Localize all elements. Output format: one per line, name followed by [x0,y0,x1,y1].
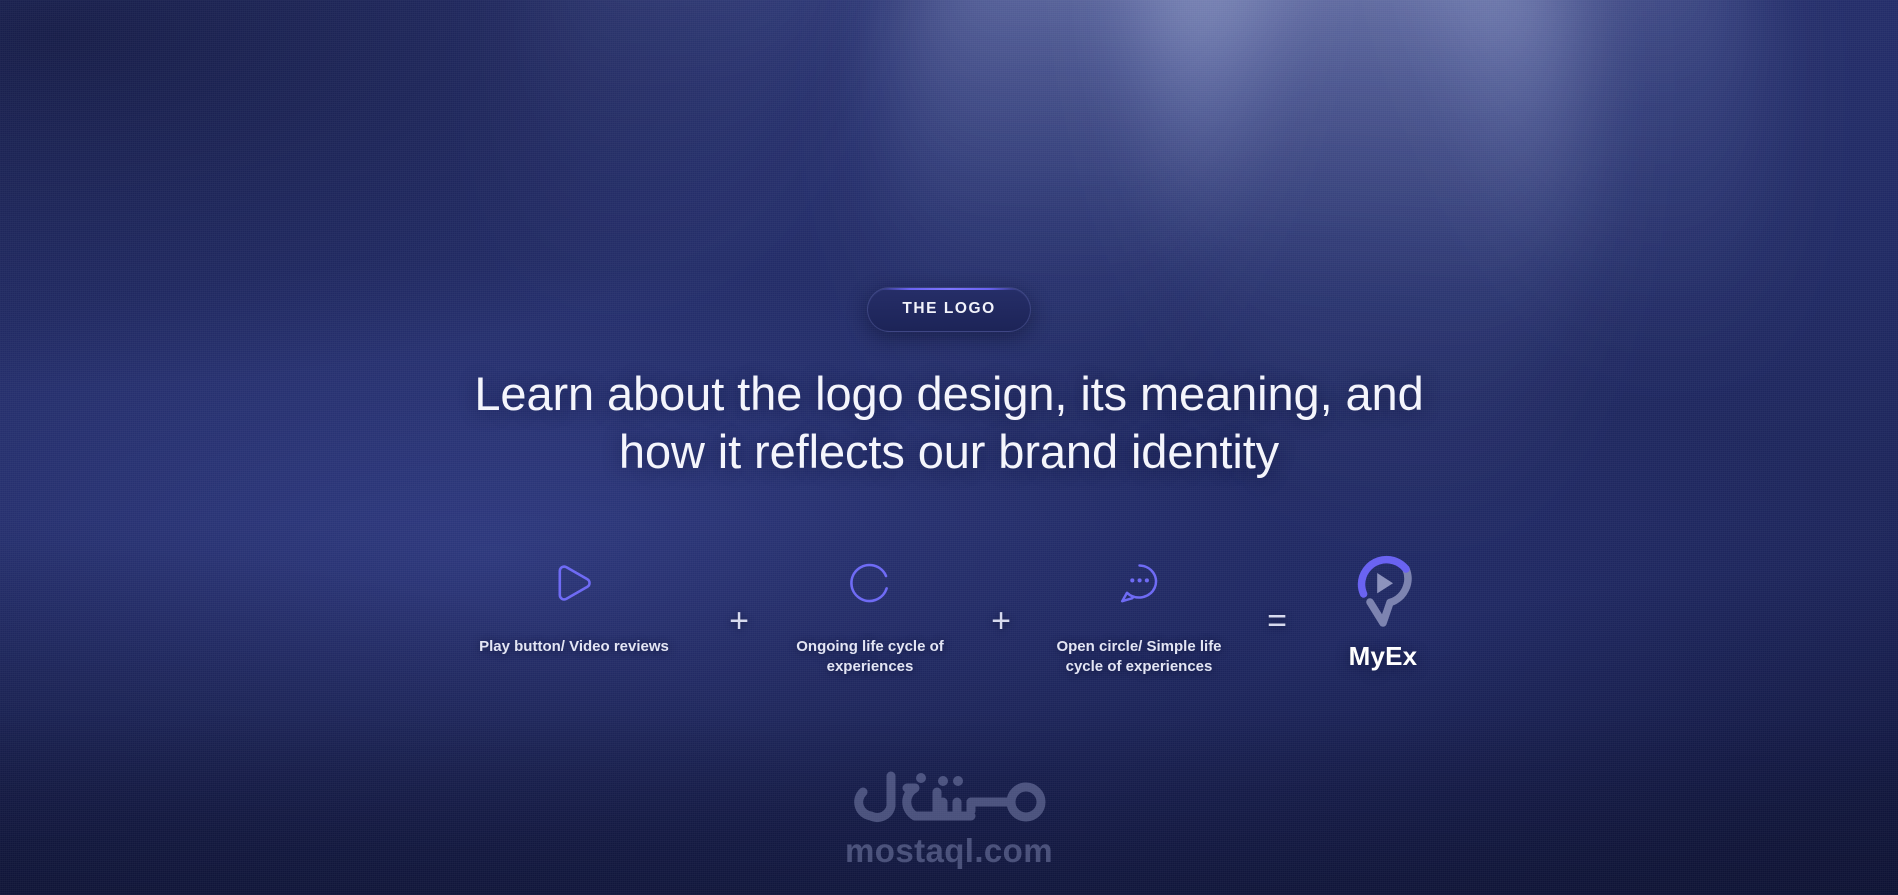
operator-plus-1: + [708,579,770,663]
the-logo-badge[interactable]: THE LOGO [867,287,1030,332]
equation-item-open-circle: Ongoing life cycle of experiences [770,541,970,678]
caption-line-1: Open circle/ Simple life [1056,638,1221,655]
equation-item-myex-logo: MyEx [1308,541,1458,672]
play-triangle-outline-icon [546,555,602,611]
myex-wordmark: MyEx [1349,641,1418,672]
caption-line-2: experiences [827,658,914,675]
page-stage: THE LOGO Learn about the logo design, it… [0,0,1898,895]
operator-equals: = [1246,579,1308,663]
the-logo-badge-label: THE LOGO [902,301,995,317]
speech-bubble-dots-icon [1111,555,1167,611]
icon-slot [1111,541,1167,625]
operator-plus-2: + [970,579,1032,663]
logo-equation-row: Play button/ Video reviews + Ongoing lif… [440,541,1458,678]
equation-item-speech-bubble: Open circle/ Simple life cycle of experi… [1032,541,1246,678]
page-title: Learn about the logo design, its meaning… [419,365,1479,481]
headline-line-2: how it reflects our brand identity [419,423,1479,481]
equation-item-caption: Play button/ Video reviews [479,637,669,657]
headline-line-1: Learn about the logo design, its meaning… [419,365,1479,423]
equation-item-caption: Ongoing life cycle of experiences [796,637,944,678]
open-circle-icon [842,555,898,611]
equation-item-caption: Open circle/ Simple life cycle of experi… [1056,637,1221,678]
icon-slot [546,541,602,625]
icon-slot [842,541,898,625]
caption-line-1: Ongoing life cycle of [796,638,944,655]
hero-content: THE LOGO Learn about the logo design, it… [0,0,1898,895]
icon-slot [1347,541,1419,625]
myex-logo-icon [1347,539,1419,627]
equation-item-play-button: Play button/ Video reviews [440,541,708,657]
caption-line-1: Play button/ Video reviews [479,638,669,655]
caption-line-2: cycle of experiences [1066,658,1213,675]
